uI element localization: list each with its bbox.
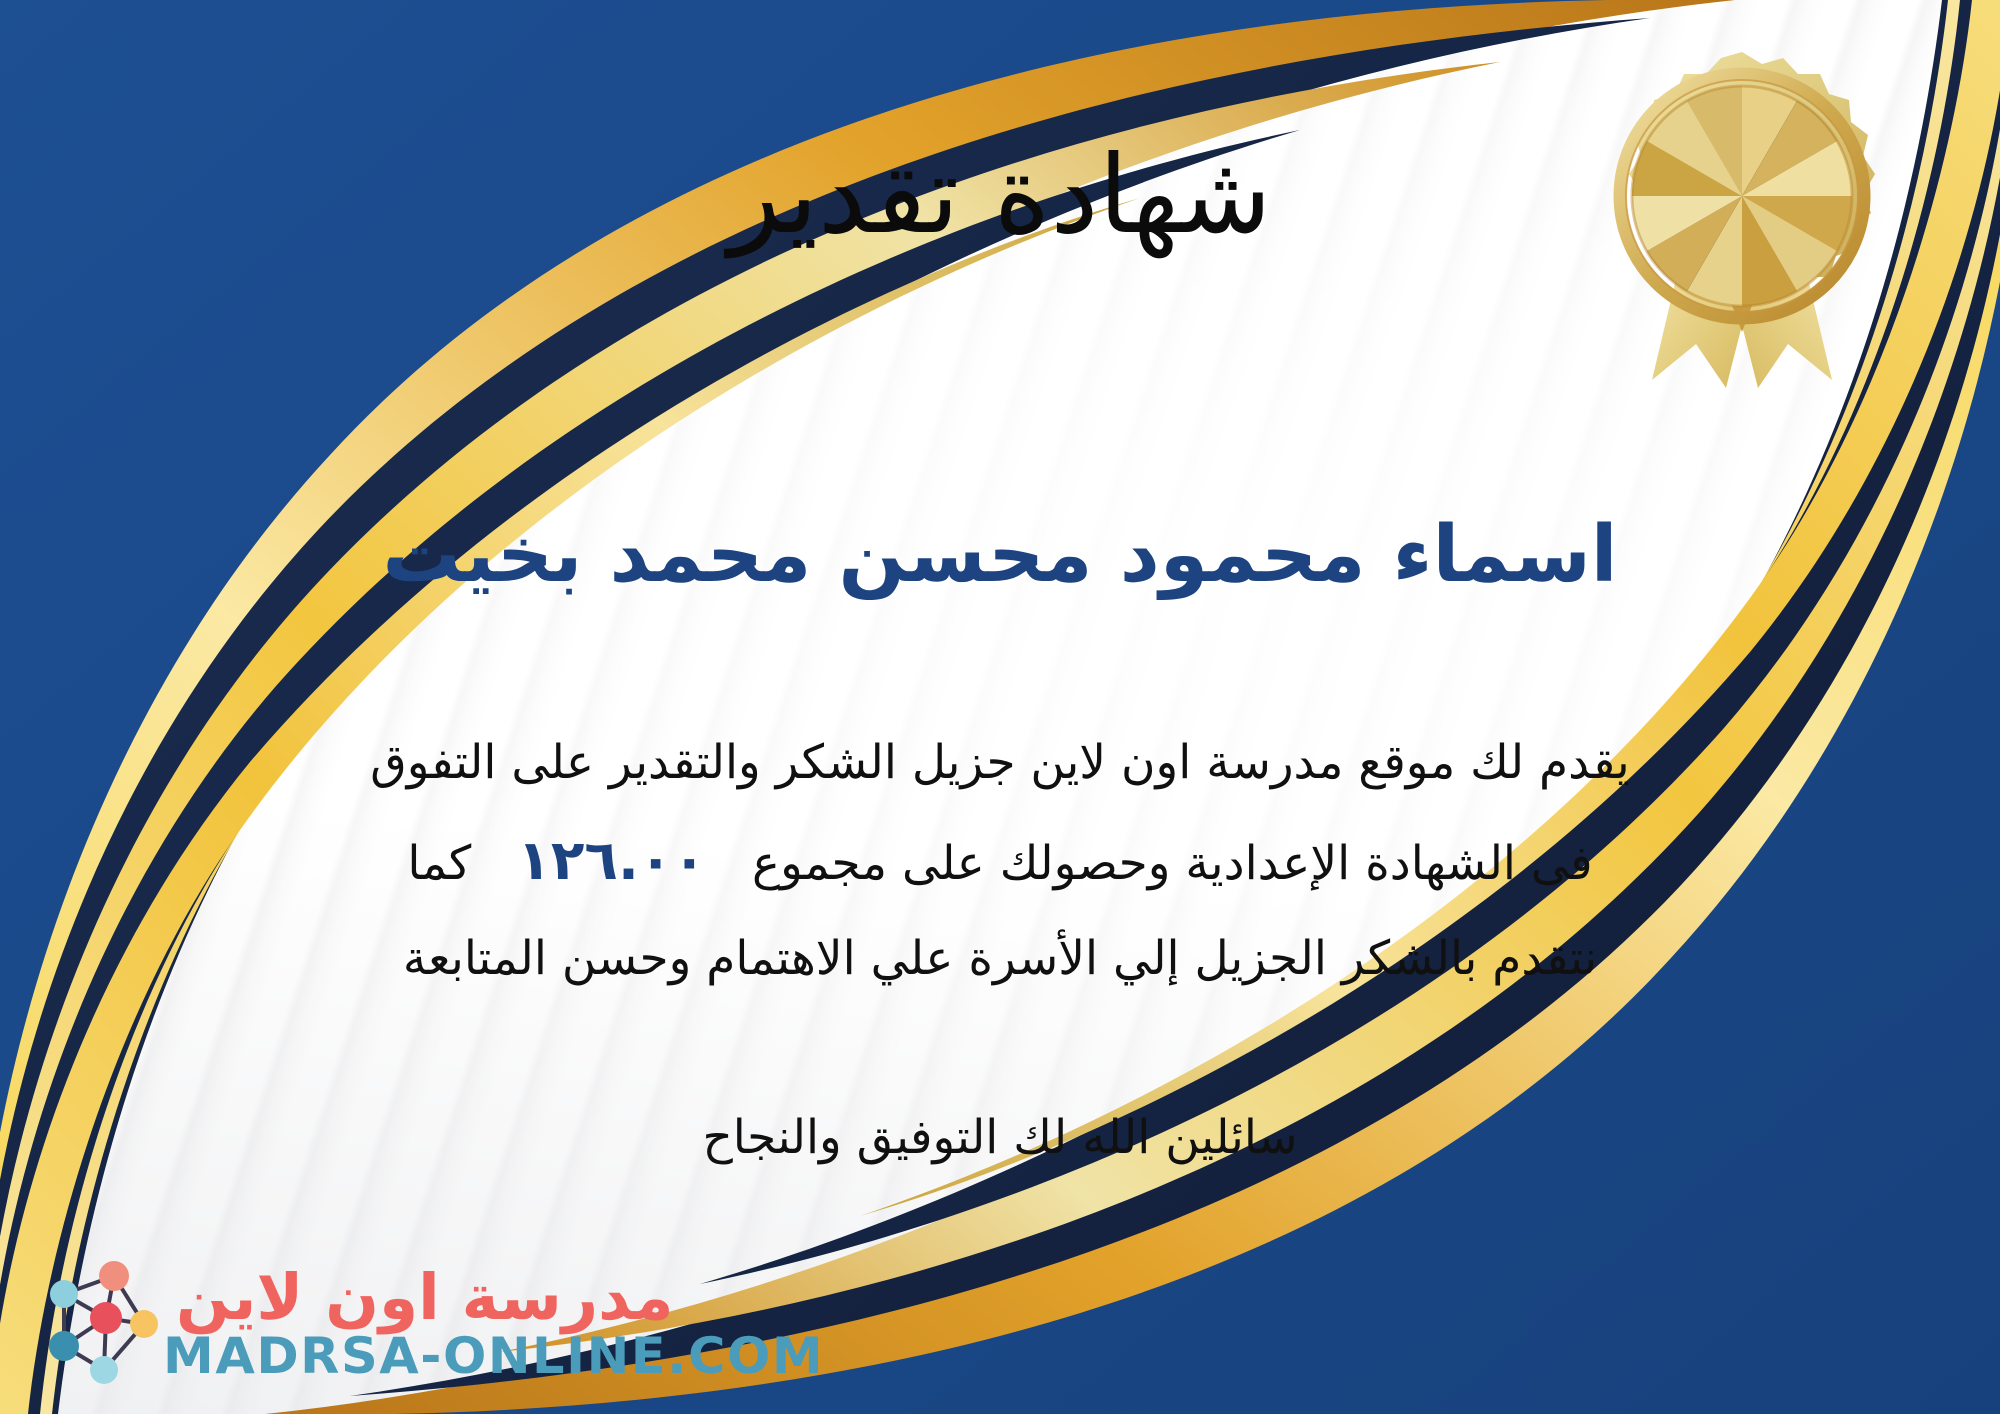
brand-website: MADRSA-ONLINE.COM	[163, 1331, 824, 1381]
page-title: شهادة تقدير	[0, 132, 2000, 259]
body-line-2: فى الشهادة الإعدادية وحصولك على مجموع١٢٦…	[46, 808, 1954, 914]
brand-arabic-name: مدرسة اون لاين	[176, 1266, 673, 1329]
recipient-name: اسماء محمود محسن محمد بخيت	[0, 508, 2000, 603]
body-line-3: نتقدم بالشكر الجزيل إلي الأسرة علي الاهت…	[46, 914, 1954, 1004]
total-score-value: ١٢٦.٠٠	[471, 828, 752, 892]
body-line-2-prefix: فى الشهادة الإعدادية وحصولك على مجموع	[752, 836, 1593, 891]
network-graph-icon	[34, 1254, 166, 1392]
certificate-canvas: شهادة تقدير اسماء محمود محسن محمد بخيت ي…	[0, 0, 2000, 1414]
brand-text: مدرسة اون لاين MADRSA-ONLINE.COM	[176, 1266, 824, 1381]
body-line-2-suffix: كما	[407, 836, 471, 891]
certificate-body: يقدم لك موقع مدرسة اون لاين جزيل الشكر و…	[46, 718, 1954, 1004]
closing-line: سائلين الله لك التوفيق والنجاح	[0, 1100, 2000, 1175]
body-line-1: يقدم لك موقع مدرسة اون لاين جزيل الشكر و…	[46, 718, 1954, 808]
brand-logo[interactable]: مدرسة اون لاين MADRSA-ONLINE.COM	[34, 1254, 824, 1392]
